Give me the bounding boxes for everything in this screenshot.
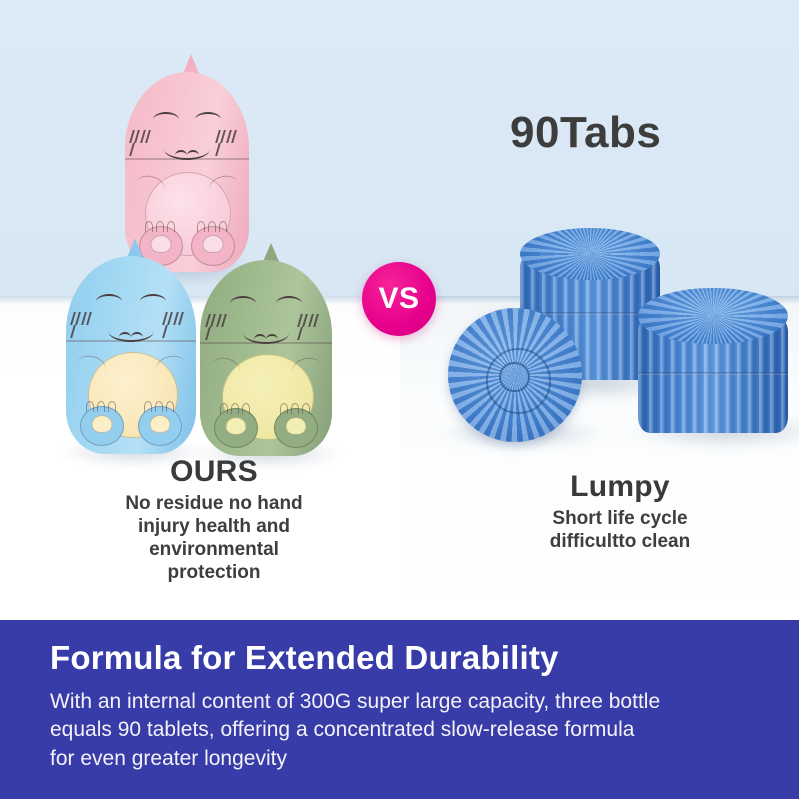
tabs-count-heading: 90Tabs: [510, 108, 661, 158]
blue-tablet-front-disc: [448, 308, 582, 442]
lumpy-description-line-1: Short life cycle: [470, 507, 770, 530]
vs-label: VS: [378, 282, 419, 316]
feature-banner: Formula for Extended Durability With an …: [0, 620, 799, 799]
dino-foot-pad-left: [226, 417, 247, 435]
tablet-radial-pattern: [520, 228, 660, 280]
dino-claw-left: [81, 401, 123, 411]
ours-description-line-1: No residue no hand: [58, 492, 370, 515]
tablet-radial-pattern: [638, 288, 788, 344]
dino-foot-pad-right: [203, 235, 224, 253]
dino-blush-left-icon: [131, 130, 157, 144]
banner-body-line-1: With an internal content of 300G super l…: [50, 688, 750, 716]
dino-eye-left-icon: [96, 294, 122, 309]
tablet-spiral-core: [499, 362, 530, 393]
dino-foot-right: [138, 406, 182, 446]
dino-eye-right-icon: [140, 294, 166, 309]
dino-eye-left-icon: [230, 296, 256, 311]
ours-description-line-4: protection: [58, 561, 370, 584]
bottle-body: [200, 260, 332, 456]
dino-claw-right: [275, 403, 317, 413]
banner-title: Formula for Extended Durability: [50, 640, 753, 676]
dino-mouth-icon: [108, 320, 154, 342]
dino-eye-left-icon: [153, 112, 179, 127]
dino-blush-right-icon: [164, 312, 190, 326]
dino-foot-pad-right: [286, 417, 307, 435]
product-photo-scene: VS: [0, 0, 799, 620]
dino-claw-right: [192, 221, 234, 231]
vs-badge: VS: [362, 262, 436, 336]
dino-foot-pad-right: [150, 415, 171, 433]
ours-description-line-2: injury health and: [58, 515, 370, 538]
dino-foot-left: [214, 408, 258, 448]
dino-blush-left-icon: [207, 314, 233, 328]
dino-blush-right-icon: [299, 314, 325, 328]
banner-body-line-3: for even greater longevity: [50, 745, 750, 773]
dino-claw-right: [139, 401, 181, 411]
tablet-top-cap: [638, 288, 788, 344]
lumpy-description-line-2: difficultto clean: [470, 530, 770, 553]
blue-tablet-stack-right: [638, 288, 788, 433]
dino-eye-right-icon: [276, 296, 302, 311]
dino-mouth-icon: [164, 138, 210, 160]
tablet-top-cap: [520, 228, 660, 280]
dino-bottle-green: [200, 260, 332, 456]
dino-mouth-icon: [243, 322, 289, 344]
caption-lumpy: Lumpy Short life cycle difficultto clean: [470, 470, 770, 553]
bottle-body: [66, 256, 196, 454]
ours-title: OURS: [58, 455, 370, 489]
dino-claw-left: [215, 403, 257, 413]
lumpy-title: Lumpy: [470, 470, 770, 504]
dino-foot-right: [274, 408, 318, 448]
caption-ours: OURS No residue no hand injury health an…: [58, 455, 370, 584]
dino-blush-right-icon: [217, 130, 243, 144]
dino-bottle-blue: [66, 256, 196, 454]
tablet-seam: [638, 372, 788, 375]
dino-eye-right-icon: [195, 112, 221, 127]
dino-foot-pad-left: [92, 415, 113, 433]
tablet-face: [448, 308, 582, 442]
dino-foot-left: [80, 406, 124, 446]
product-comparison-infographic: VS: [0, 0, 799, 799]
dino-claw-left: [140, 221, 182, 231]
dino-foot-pad-left: [151, 235, 172, 253]
ours-description-line-3: environmental: [58, 538, 370, 561]
dino-blush-left-icon: [72, 312, 98, 326]
banner-body-line-2: equals 90 tablets, offering a concentrat…: [50, 716, 750, 744]
